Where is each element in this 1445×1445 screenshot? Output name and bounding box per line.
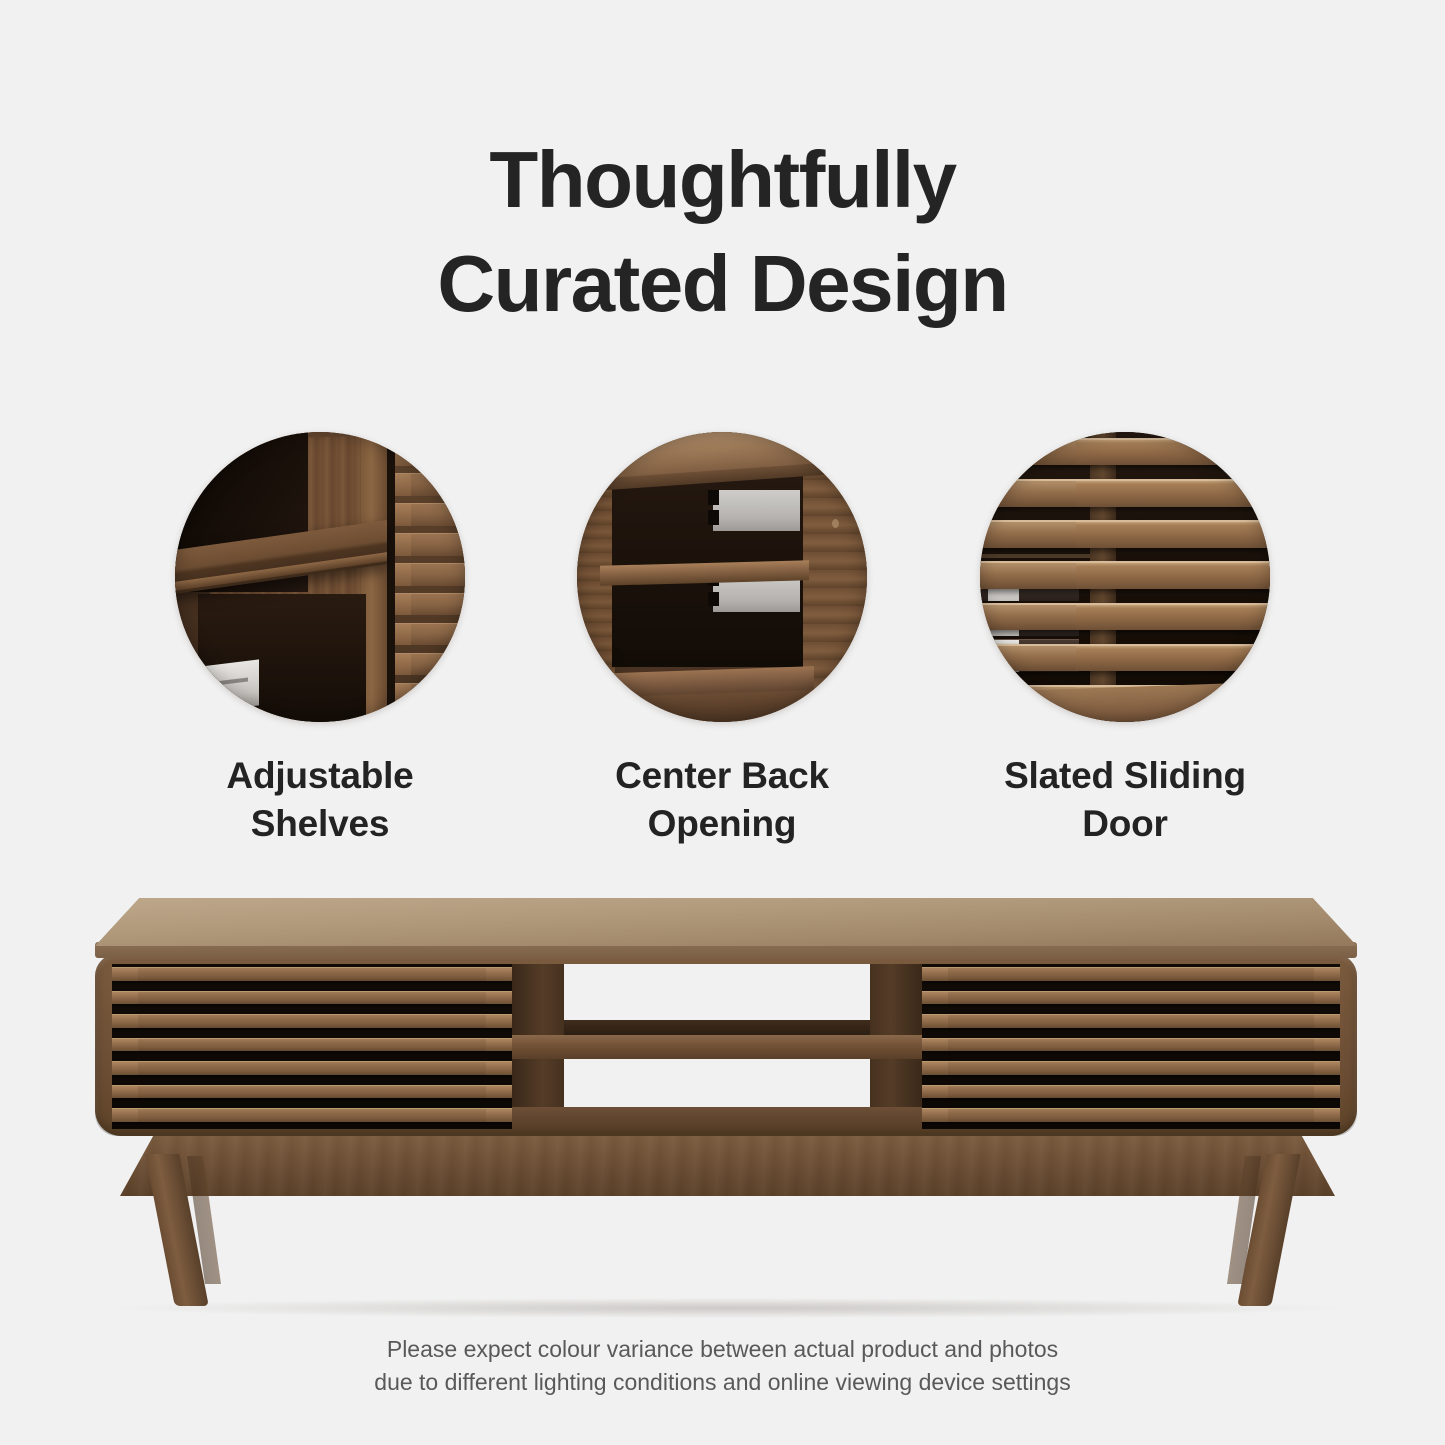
slat-end-cap	[1314, 1015, 1340, 1028]
door-slat	[112, 1108, 512, 1122]
slat-end-cap	[1314, 1109, 1340, 1122]
detail-slat-tab	[395, 504, 410, 525]
slat-end-cap	[112, 1062, 138, 1075]
slat-end-cap	[486, 1109, 512, 1122]
detail-slat-tab	[395, 624, 410, 645]
slat-end-cap	[112, 1015, 138, 1028]
detail-slat	[395, 653, 465, 675]
center-open-compartment	[512, 964, 922, 1129]
feature-image-center-back-opening	[577, 432, 867, 722]
door-slat	[112, 1014, 512, 1028]
slat-end-cap	[922, 1086, 948, 1099]
sliding-door-right[interactable]	[922, 964, 1340, 1129]
feature-label-adjustable-shelves: Adjustable Shelves	[155, 752, 485, 848]
slat-end-cap	[922, 1062, 948, 1075]
door-slat	[112, 991, 512, 1005]
slat-end-cap	[486, 968, 512, 981]
door-slat	[922, 967, 1340, 981]
detail-slat	[395, 563, 465, 585]
slat-end-cap	[486, 1015, 512, 1028]
detail-slat	[395, 503, 465, 525]
slat-end-cap	[922, 1039, 948, 1052]
door-slat	[922, 1108, 1340, 1122]
slat-end-cap	[112, 968, 138, 981]
title-line-1: Thoughtfully	[0, 128, 1445, 232]
slat-end-cap	[1314, 992, 1340, 1005]
slat-end-cap	[112, 1109, 138, 1122]
disclaimer-line-2: due to different lighting conditions and…	[0, 1366, 1445, 1399]
sliding-door-left[interactable]	[112, 964, 512, 1129]
floor-shadow	[120, 1298, 1335, 1318]
feature-label-slated-sliding-door: Slated Sliding Door	[960, 752, 1290, 848]
feature-label-line2: Door	[960, 800, 1290, 848]
detail-slat	[980, 520, 1270, 548]
infographic-canvas: Thoughtfully Curated Design Adjustable	[0, 0, 1445, 1445]
slat-end-cap	[112, 1086, 138, 1099]
feature-item-adjustable-shelves: Adjustable Shelves	[155, 432, 485, 848]
feature-image-adjustable-shelves	[175, 432, 465, 722]
detail-slat	[395, 623, 465, 645]
feature-item-center-back-opening: Center Back Opening	[557, 432, 887, 848]
title-line-2: Curated Design	[0, 232, 1445, 336]
door-slat	[922, 1038, 1340, 1052]
detail-slat-notch	[980, 440, 1076, 466]
feature-label-line2: Opening	[557, 800, 887, 848]
detail-slat-notch	[980, 646, 1076, 672]
door-slat	[112, 1038, 512, 1052]
detail-slat	[980, 644, 1270, 672]
detail-slat-tab	[395, 594, 410, 615]
door-slat	[922, 1061, 1340, 1075]
feature-label-line2: Shelves	[155, 800, 485, 848]
detail-slat-tab	[395, 474, 410, 495]
detail-slat	[980, 561, 1270, 589]
feature-label-line1: Slated Sliding	[960, 752, 1290, 800]
door-slat	[112, 967, 512, 981]
slat-end-cap	[1314, 1086, 1340, 1099]
cabinet-top-surface	[95, 898, 1357, 946]
slat-end-cap	[922, 1015, 948, 1028]
feature-label-center-back-opening: Center Back Opening	[557, 752, 887, 848]
detail-slat-notch	[980, 563, 1076, 589]
product-image-tv-stand	[0, 880, 1445, 1310]
disclaimer-line-1: Please expect colour variance between ac…	[0, 1333, 1445, 1366]
feature-label-line1: Adjustable	[155, 752, 485, 800]
disclaimer: Please expect colour variance between ac…	[0, 1333, 1445, 1399]
slat-end-cap	[112, 992, 138, 1005]
slat-end-cap	[486, 1039, 512, 1052]
door-slat	[922, 991, 1340, 1005]
detail-slat	[395, 593, 465, 615]
detail-slat	[980, 603, 1270, 631]
slat-end-cap	[112, 1039, 138, 1052]
detail-slat	[980, 438, 1270, 466]
detail-slat	[395, 444, 465, 466]
detail-slat-notch	[980, 522, 1076, 548]
door-slat	[112, 1061, 512, 1075]
slat-end-cap	[1314, 1039, 1340, 1052]
detail-slat-tab	[395, 445, 410, 466]
slat-end-cap	[922, 968, 948, 981]
feature-item-slated-sliding-door: FASHION Slated Sliding Door	[960, 432, 1290, 848]
bottom-apron	[120, 1130, 1335, 1196]
detail-slat	[395, 683, 465, 705]
feature-label-line1: Center Back	[557, 752, 887, 800]
slat-end-cap	[486, 1086, 512, 1099]
slat-end-cap	[922, 992, 948, 1005]
door-slat	[922, 1014, 1340, 1028]
slat-end-cap	[922, 1109, 948, 1122]
detail-slat	[395, 533, 465, 555]
feature-image-slated-sliding-door: FASHION	[980, 432, 1270, 722]
slat-end-cap	[1314, 968, 1340, 981]
detail-slat-tab	[395, 534, 410, 555]
detail-slat-notch	[980, 481, 1076, 507]
page-title: Thoughtfully Curated Design	[0, 128, 1445, 336]
door-slat	[112, 1085, 512, 1099]
detail-slat-notch	[980, 605, 1076, 631]
slat-end-cap	[486, 1062, 512, 1075]
slat-end-cap	[1314, 1062, 1340, 1075]
slat-end-cap	[486, 992, 512, 1005]
detail-slat-tab	[395, 564, 410, 585]
detail-slat-tab	[395, 654, 410, 675]
detail-slat	[395, 473, 465, 495]
feature-list: Adjustable Shelves	[0, 432, 1445, 882]
door-slat	[922, 1085, 1340, 1099]
detail-slat-tab	[395, 684, 410, 705]
detail-slat	[980, 479, 1270, 507]
